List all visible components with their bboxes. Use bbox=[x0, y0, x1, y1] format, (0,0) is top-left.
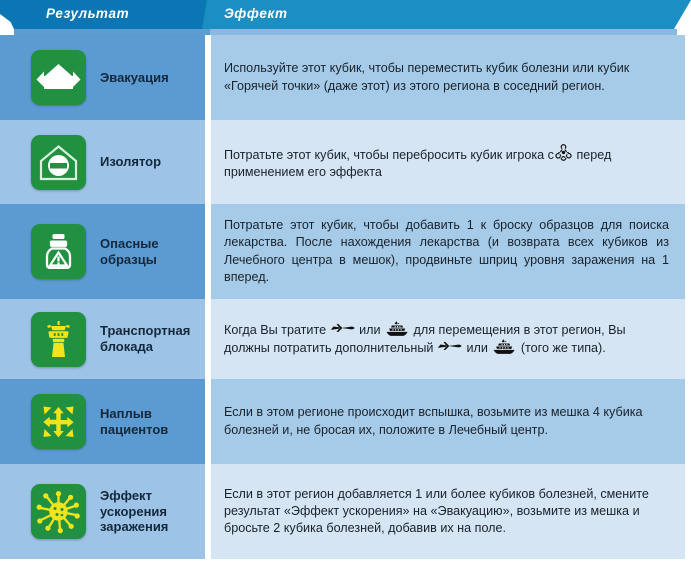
effect-cell: Потратьте этот кубик, чтобы перебросить … bbox=[211, 120, 685, 204]
header-left-notch bbox=[0, 0, 20, 29]
table-body: Эвакуация Используйте этот кубик, чтобы … bbox=[0, 35, 691, 561]
biohazard-icon bbox=[554, 143, 573, 162]
table-row: Опасные образцы Потратьте этот кубик, чт… bbox=[0, 204, 691, 299]
evacuation-house-arrows-icon bbox=[31, 50, 86, 105]
effect-cell: Если в этот регион добавляется 1 или бол… bbox=[211, 464, 685, 559]
boat-icon bbox=[491, 339, 517, 355]
effect-text: Потратьте этот кубик, чтобы перебросить … bbox=[224, 143, 669, 181]
airplane-icon bbox=[437, 340, 463, 355]
right-margin bbox=[685, 120, 691, 204]
patient-influx-arrows-icon bbox=[31, 394, 86, 449]
header-column-divider bbox=[196, 0, 214, 29]
right-margin bbox=[685, 35, 691, 120]
effect-text-part4: или bbox=[466, 341, 487, 355]
result-cell: Изолятор bbox=[0, 120, 205, 204]
result-name: Опасные образцы bbox=[100, 236, 199, 268]
right-margin bbox=[685, 379, 691, 464]
effect-text: Используйте этот кубик, чтобы переместит… bbox=[224, 60, 669, 94]
boat-icon bbox=[384, 321, 410, 337]
result-cell: Эвакуация bbox=[0, 35, 205, 120]
table-row: Эффект ускорения заражения Если в этот р… bbox=[0, 464, 691, 559]
result-name: Изолятор bbox=[100, 154, 161, 170]
result-cell: Наплыв пациентов bbox=[0, 379, 205, 464]
effect-text: Потратьте этот кубик, чтобы добавить 1 к… bbox=[224, 217, 669, 286]
header-label-result: Результат bbox=[46, 6, 129, 21]
effect-text: Когда Вы тратите или для перемещения в э… bbox=[224, 321, 669, 357]
effect-text: Если в этом регионе происходит вспышка, … bbox=[224, 404, 669, 438]
result-cell: Эффект ускорения заражения bbox=[0, 464, 205, 559]
result-cell: Опасные образцы bbox=[0, 204, 205, 299]
isolator-house-noentry-icon bbox=[31, 135, 86, 190]
right-margin bbox=[685, 464, 691, 559]
right-margin bbox=[685, 299, 691, 379]
effect-cell: Потратьте этот кубик, чтобы добавить 1 к… bbox=[211, 204, 685, 299]
hazardous-samples-jar-icon bbox=[31, 224, 86, 279]
effect-text: Если в этот регион добавляется 1 или бол… bbox=[224, 486, 669, 537]
result-effect-table: Результат Эффект Эвакуация Ис bbox=[0, 0, 691, 561]
table-header: Результат Эффект bbox=[0, 0, 691, 32]
result-name: Эффект ускорения заражения bbox=[100, 488, 199, 536]
acceleration-virus-icon bbox=[31, 484, 86, 539]
transport-blockade-tower-icon bbox=[31, 312, 86, 367]
result-name: Наплыв пациентов bbox=[100, 406, 199, 438]
effect-text-part5: (того же типа). bbox=[521, 341, 606, 355]
effect-cell: Когда Вы тратите или для перемещения в э… bbox=[211, 299, 685, 379]
table-row: Изолятор Потратьте этот кубик, чтобы пер… bbox=[0, 120, 691, 204]
table-row: Наплыв пациентов Если в этом регионе про… bbox=[0, 379, 691, 464]
effect-text-part1: Потратьте этот кубик, чтобы перебросить … bbox=[224, 148, 554, 162]
right-margin bbox=[685, 204, 691, 299]
airplane-icon bbox=[330, 322, 356, 337]
effect-cell: Используйте этот кубик, чтобы переместит… bbox=[211, 35, 685, 120]
result-name: Эвакуация bbox=[100, 70, 169, 86]
effect-cell: Если в этом регионе происходит вспышка, … bbox=[211, 379, 685, 464]
effect-text-part2: или bbox=[359, 323, 380, 337]
table-row: Эвакуация Используйте этот кубик, чтобы … bbox=[0, 35, 691, 120]
header-label-effect: Эффект bbox=[224, 6, 288, 21]
effect-text-part1: Когда Вы тратите bbox=[224, 323, 326, 337]
result-cell: Транспортная блокада bbox=[0, 299, 205, 379]
table-row: Транспортная блокада Когда Вы тратите ил… bbox=[0, 299, 691, 379]
result-name: Транспортная блокада bbox=[100, 323, 199, 355]
